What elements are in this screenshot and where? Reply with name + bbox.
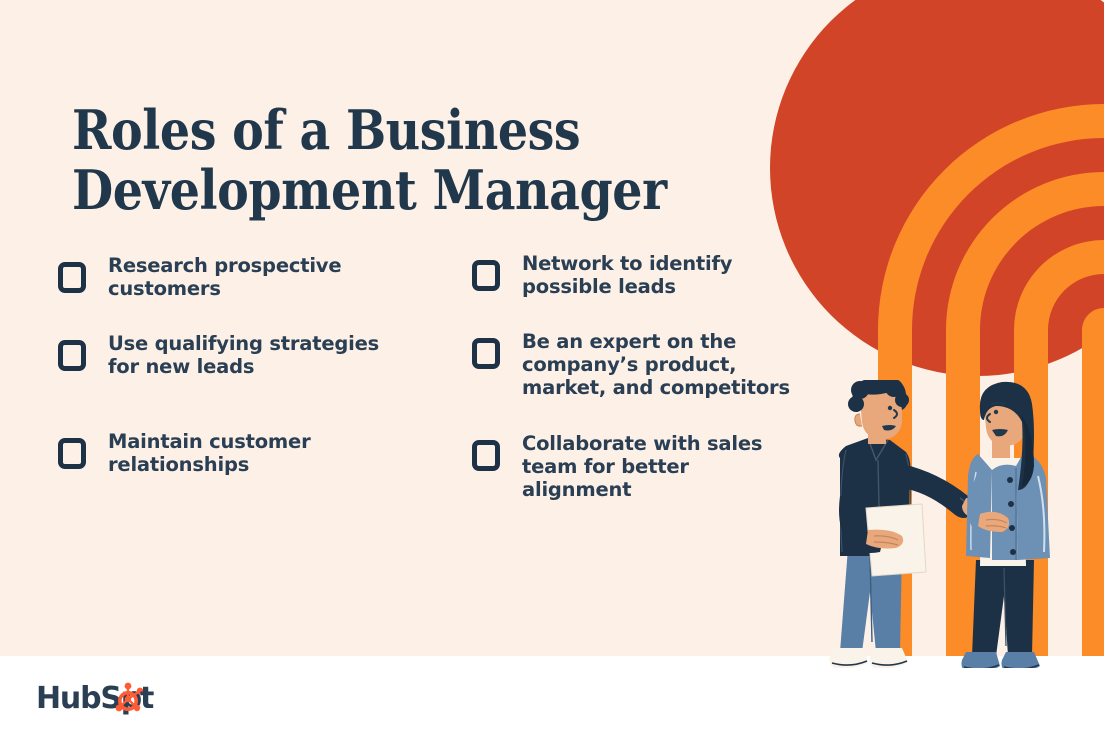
checkbox-icon[interactable]	[58, 262, 86, 293]
list-item[interactable]: Collaborate with sales team for better a…	[472, 432, 762, 501]
list-item-label: Collaborate with sales team for better a…	[522, 432, 762, 501]
checkbox-icon[interactable]	[472, 440, 500, 471]
page-title-line-1: Roles of a Business	[72, 100, 653, 160]
checklist: Research prospective customers Use quali…	[0, 240, 830, 530]
list-item[interactable]: Maintain customer relationships	[58, 430, 311, 476]
figure-right	[962, 382, 1051, 673]
list-item[interactable]: Network to identify possible leads	[472, 252, 732, 298]
people-illustration	[810, 380, 1104, 700]
page-title: Roles of a Business Development Manager	[72, 100, 653, 220]
checkbox-icon[interactable]	[58, 340, 86, 371]
hubspot-logo-icon: HubSp t	[36, 677, 168, 717]
list-item-label: Be an expert on the company’s product, m…	[522, 330, 790, 399]
checkbox-icon[interactable]	[472, 260, 500, 291]
list-item[interactable]: Use qualifying strategies for new leads	[58, 332, 379, 378]
list-item-label: Network to identify possible leads	[522, 252, 732, 298]
checkbox-icon[interactable]	[58, 438, 86, 469]
hubspot-logo[interactable]: HubSp t	[36, 678, 168, 716]
page-title-line-2: Development Manager	[72, 160, 653, 220]
list-item-label: Research prospective customers	[108, 254, 341, 300]
hubspot-wordmark-part2: t	[140, 681, 154, 716]
figure-left	[830, 380, 987, 668]
list-item[interactable]: Be an expert on the company’s product, m…	[472, 330, 790, 399]
list-item[interactable]: Research prospective customers	[58, 254, 341, 300]
checkbox-icon[interactable]	[472, 338, 500, 369]
list-item-label: Maintain customer relationships	[108, 430, 311, 476]
infographic-canvas: Roles of a Business Development Manager …	[0, 0, 1104, 736]
list-item-label: Use qualifying strategies for new leads	[108, 332, 379, 378]
